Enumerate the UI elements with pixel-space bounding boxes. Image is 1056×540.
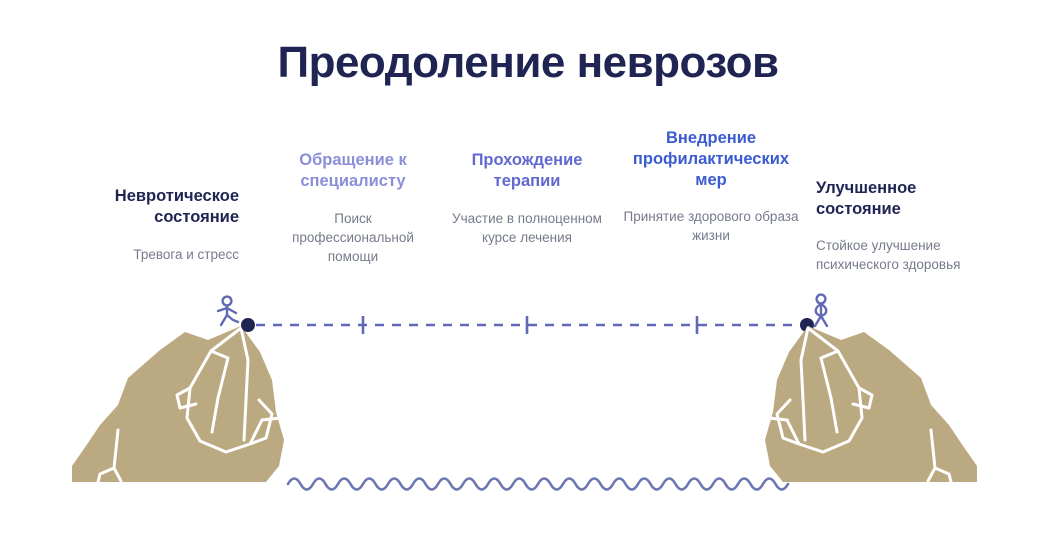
stage-description: Принятие здорового образа жизни [620, 207, 802, 245]
stage-title: Внедрение профилактических мер [620, 128, 802, 191]
stage-neurotic-state: Невротическое состояние Тревога и стресс [79, 186, 239, 264]
iceberg-left-icon [72, 326, 284, 482]
stage-title: Улучшенное состояние [816, 178, 981, 220]
stage-description: Участие в полноценном курсе лечения [448, 209, 606, 247]
path-end-dot [800, 318, 814, 332]
stage-therapy-course: Прохождение терапии Участие в полноценно… [448, 150, 606, 247]
page-title: Преодоление неврозов [0, 38, 1056, 88]
dashed-path [256, 316, 800, 334]
infographic-canvas: Преодоление неврозов Невротическое состо… [0, 0, 1056, 540]
stage-specialist-referral: Обращение к специалисту Поиск профессион… [274, 150, 432, 266]
stage-title: Прохождение терапии [448, 150, 606, 192]
stage-description: Стойкое улучшение психического здоровья [816, 236, 981, 274]
iceberg-right-icon [765, 326, 977, 482]
water-wave-line [288, 479, 788, 490]
stage-description: Поиск профессиональной помощи [274, 209, 432, 266]
stage-title: Обращение к специалисту [274, 150, 432, 192]
path-start-dot [241, 318, 255, 332]
stage-description: Тревога и стресс [79, 245, 239, 264]
stick-figure-standing-icon [815, 295, 827, 326]
stage-preventive-measures: Внедрение профилактических мер Принятие … [620, 128, 802, 245]
stage-title: Невротическое состояние [79, 186, 239, 228]
stick-figure-walking-icon [218, 297, 238, 325]
stage-improved-state: Улучшенное состояние Стойкое улучшение п… [816, 178, 981, 274]
